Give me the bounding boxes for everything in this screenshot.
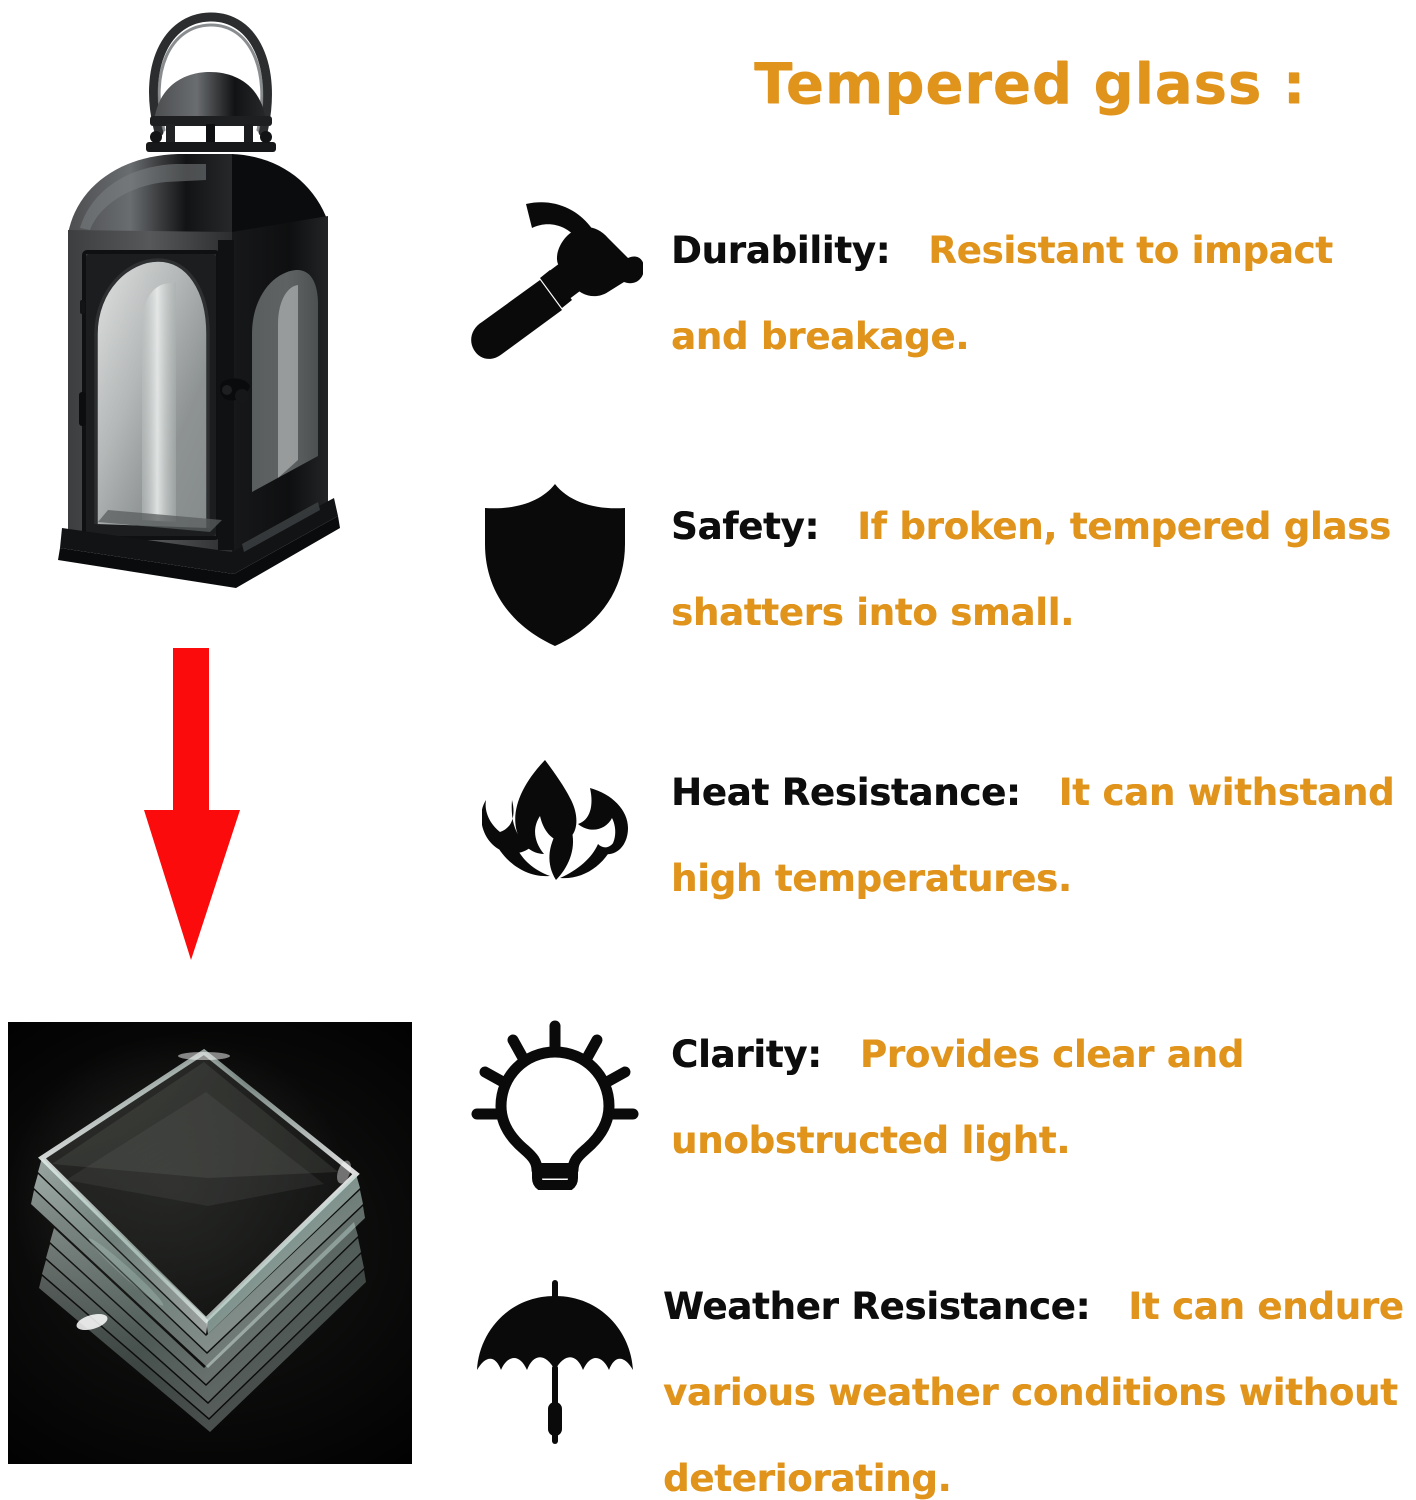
flame-icon-container	[455, 758, 655, 904]
feature-text-weather-resistance: Weather Resistance: It can endure variou…	[663, 1264, 1416, 1500]
feature-text-safety: Safety: If broken, tempered glass shatte…	[671, 484, 1411, 656]
umbrella-icon	[475, 1278, 635, 1448]
tempered-glass-photo	[8, 1022, 412, 1464]
flame-icon	[482, 758, 628, 904]
feature-label: Heat Resistance:	[671, 771, 1021, 814]
lantern-product-image	[46, 4, 376, 634]
feature-label: Safety:	[671, 505, 819, 548]
page-title: Tempered glass :	[660, 52, 1400, 117]
lightbulb-icon-container	[455, 1018, 655, 1194]
hammer-icon	[468, 196, 643, 370]
infographic-page: Tempered glass :	[0, 0, 1416, 1500]
lightbulb-icon	[471, 1018, 639, 1194]
umbrella-icon-container	[455, 1278, 655, 1448]
feature-text-clarity: Clarity: Provides clear and unobstructed…	[671, 1012, 1411, 1184]
feature-label: Durability:	[671, 229, 890, 272]
shield-icon-container	[455, 480, 655, 654]
red-down-arrow-icon	[126, 648, 266, 960]
feature-label: Weather Resistance:	[663, 1285, 1090, 1328]
feature-text-heat-resistance: Heat Resistance: It can withstand high t…	[671, 750, 1411, 922]
hammer-icon-container	[455, 196, 655, 370]
shield-icon	[481, 480, 629, 654]
feature-label: Clarity:	[671, 1033, 822, 1076]
feature-text-durability: Durability: Resistant to impact and brea…	[671, 208, 1411, 380]
